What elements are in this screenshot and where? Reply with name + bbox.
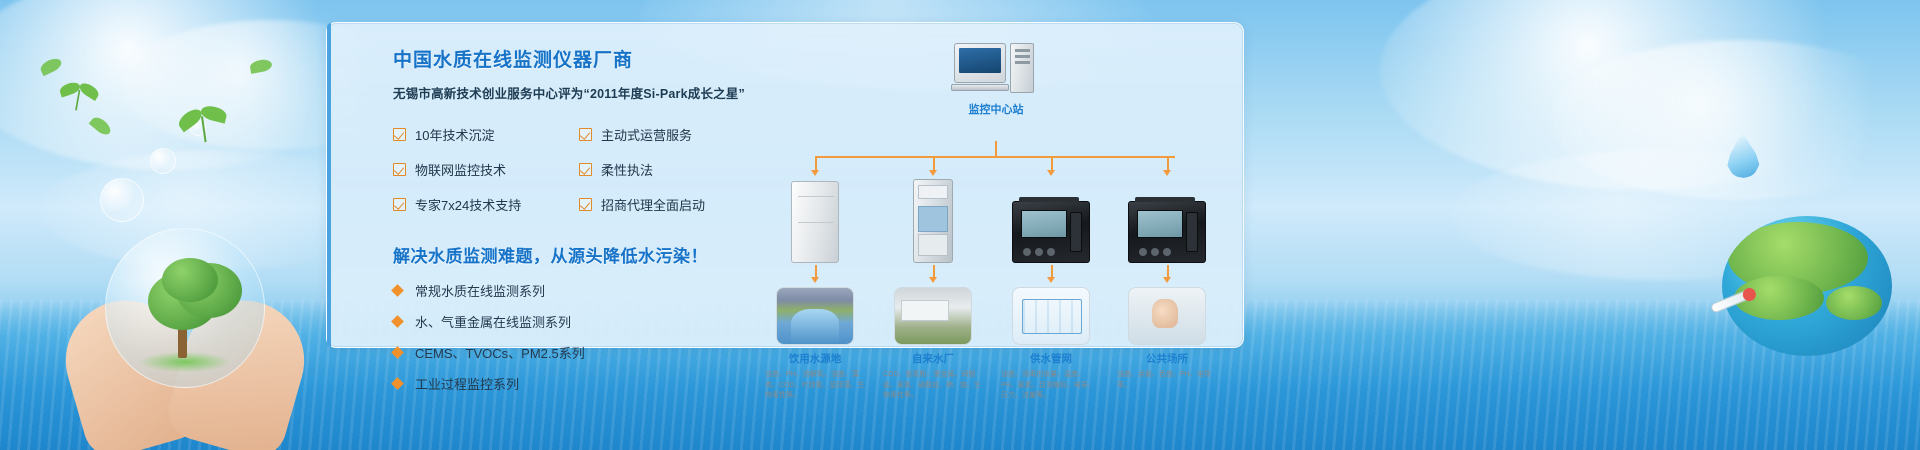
checklist-item[interactable]: 专家7x24技术支持	[393, 195, 579, 214]
device-water-cabinet	[763, 177, 867, 263]
station-column	[881, 177, 985, 263]
station-title: 自来水厂	[881, 351, 985, 366]
hero-panel: 中国水质在线监测仪器厂商 无锡市高新技术创业服务中心评为“2011年度Si-Pa…	[326, 22, 1244, 348]
device-controller-black	[999, 177, 1103, 263]
checklist-item-label: 专家7x24技术支持	[415, 195, 521, 214]
device-analyzer-cabinet	[881, 177, 985, 263]
section-title: 解决水质监测难题，从源头降低水污染！	[393, 242, 763, 267]
diamond-bullet-icon	[391, 284, 404, 297]
arrow-down-icon	[1163, 277, 1171, 283]
hands-holding-tree-illustration	[70, 250, 300, 450]
station-description: 浊度、PH、溶解氧、浊度、藻类、COD、叶绿素、蓝绿藻、生物毒性等。	[763, 370, 867, 402]
product-series-list: 常规水质在线监测系列 水、气重金属在线监测系列 CEMS、TVOCs、PM2.5…	[393, 281, 763, 393]
diamond-bullet-icon	[391, 315, 404, 328]
photo-water-treatment-plant	[894, 287, 972, 345]
checklist-item-label: 10年技术沉淀	[415, 125, 494, 144]
station-title: 供水管网	[999, 351, 1103, 366]
green-earth-illustration	[1722, 216, 1892, 356]
arrow-down-icon	[811, 170, 819, 176]
checkbox-checked-icon	[579, 198, 592, 211]
panel-accent-bar	[327, 23, 331, 347]
computer-icon	[954, 43, 1038, 95]
diamond-bullet-icon	[391, 377, 404, 390]
checklist-item-label: 招商代理全面启动	[601, 195, 705, 214]
checkbox-checked-icon	[393, 163, 406, 176]
bubble-icon	[150, 148, 176, 174]
checkbox-checked-icon	[579, 128, 592, 141]
feature-checklist: 10年技术沉淀 主动式运营服务 物联网监控技术 柔性执法 专家7x24技术支持 …	[393, 125, 765, 230]
control-center-label: 监控中心站	[941, 101, 1051, 117]
station-description: 浊度、余氯、色度、PH、电导率。	[1115, 370, 1219, 391]
checkbox-checked-icon	[393, 128, 406, 141]
list-item-label: 水、气重金属在线监测系列	[415, 312, 571, 331]
arrow-down-icon	[929, 170, 937, 176]
arrow-down-icon	[929, 277, 937, 283]
checkbox-checked-icon	[579, 163, 592, 176]
device-controller-black	[1115, 177, 1219, 263]
checklist-item-label: 物联网监控技术	[415, 160, 506, 179]
station-card[interactable]: 公共场所 浊度、余氯、色度、PH、电导率。	[1115, 287, 1219, 391]
station-column	[999, 177, 1103, 263]
station-title: 公共场所	[1115, 351, 1219, 366]
checklist-item[interactable]: 招商代理全面启动	[579, 195, 765, 214]
bubble-icon	[100, 178, 144, 222]
station-card[interactable]: 饮用水源地 浊度、PH、溶解氧、浊度、藻类、COD、叶绿素、蓝绿藻、生物毒性等。	[763, 287, 867, 402]
list-item-label: CEMS、TVOCs、PM2.5系列	[415, 343, 585, 362]
panel-left-column: 中国水质在线监测仪器厂商 无锡市高新技术创业服务中心评为“2011年度Si-Pa…	[393, 45, 763, 405]
list-item[interactable]: 水、气重金属在线监测系列	[393, 312, 763, 331]
checklist-item-label: 主动式运营服务	[601, 125, 692, 144]
photo-public-place-tap	[1128, 287, 1206, 345]
list-item[interactable]: CEMS、TVOCs、PM2.5系列	[393, 343, 763, 362]
page-subtitle: 无锡市高新技术创业服务中心评为“2011年度Si-Park成长之星”	[393, 83, 763, 102]
list-item[interactable]: 工业过程监控系列	[393, 374, 763, 393]
checkbox-checked-icon	[393, 198, 406, 211]
arrow-down-icon	[1047, 277, 1055, 283]
checklist-item[interactable]: 主动式运营服务	[579, 125, 765, 144]
page-title: 中国水质在线监测仪器厂商	[393, 45, 763, 72]
arrow-down-icon	[1047, 170, 1055, 176]
checklist-item[interactable]: 物联网监控技术	[393, 160, 579, 179]
station-column	[1115, 177, 1219, 263]
station-card[interactable]: 自来水厂 COD、氨氮粉、重金属、硝酸盐、氯氮、硝酸盐、砷、铬、生物毒性等。	[881, 287, 985, 402]
list-item[interactable]: 常规水质在线监测系列	[393, 281, 763, 300]
connector-horizontal	[815, 156, 1175, 158]
list-item-label: 常规水质在线监测系列	[415, 281, 545, 300]
arrow-down-icon	[1163, 170, 1171, 176]
control-center-node: 监控中心站	[941, 43, 1051, 117]
monitoring-topology-diagram: 监控中心站 饮用水源地 浊度、PH、溶解氧、浊度、藻类、COD、叶绿素、蓝绿藻、…	[757, 37, 1227, 343]
checklist-item[interactable]: 10年技术沉淀	[393, 125, 579, 144]
checklist-item-label: 柔性执法	[601, 160, 653, 179]
list-item-label: 工业过程监控系列	[415, 374, 519, 393]
diamond-bullet-icon	[391, 346, 404, 359]
checklist-item[interactable]: 柔性执法	[579, 160, 765, 179]
photo-water-supply-network	[1012, 287, 1090, 345]
station-description: COD、氨氮粉、重金属、硝酸盐、氯氮、硝酸盐、砷、铬、生物毒性等。	[881, 370, 985, 402]
arrow-down-icon	[811, 277, 819, 283]
connector-vertical	[995, 141, 997, 157]
photo-drinking-water-source	[776, 287, 854, 345]
station-card[interactable]: 供水管网 浊度、消毒剂余量、温度、PH、氯氮、目测微标、电导、压力、流量等。	[999, 287, 1103, 402]
station-column	[763, 177, 867, 263]
station-title: 饮用水源地	[763, 351, 867, 366]
station-description: 浊度、消毒剂余量、温度、PH、氯氮、目测微标、电导、压力、流量等。	[999, 370, 1103, 402]
tree-foliage	[162, 258, 218, 302]
